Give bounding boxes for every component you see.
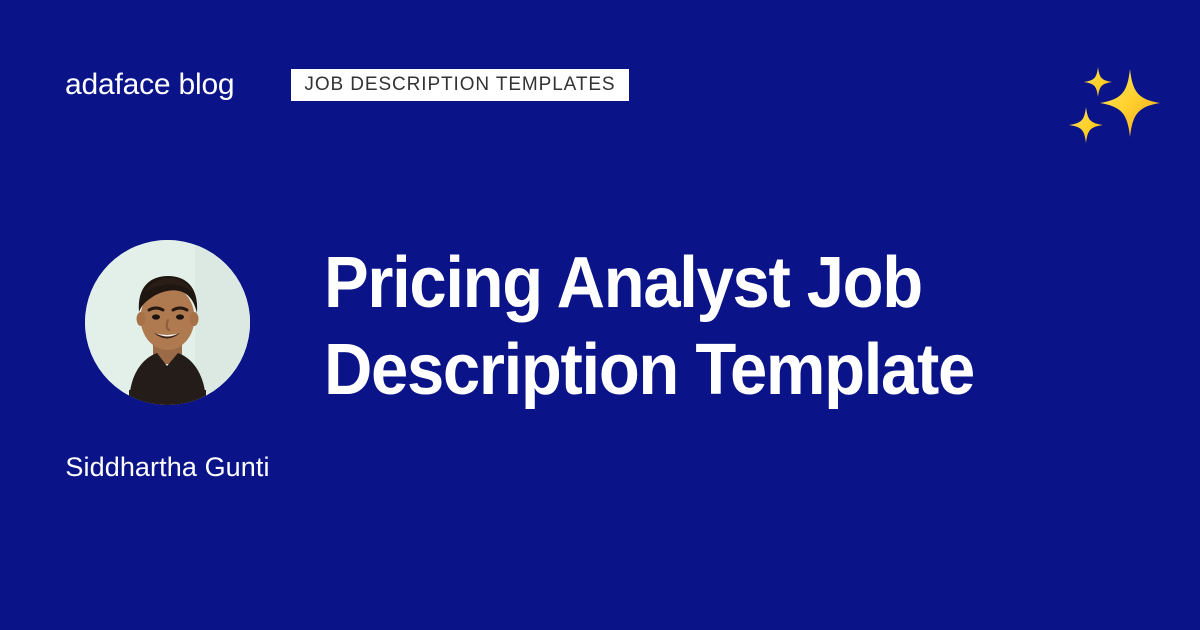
avatar bbox=[85, 240, 250, 405]
author-block: Siddhartha Gunti bbox=[85, 240, 250, 405]
page-title: Pricing Analyst Job Description Template bbox=[324, 240, 1068, 414]
page-title-line-1: Pricing Analyst Job bbox=[324, 240, 1068, 327]
blog-cover-canvas: { "theme": { "background": "#0A1387", "t… bbox=[0, 0, 1200, 630]
category-badge[interactable]: JOB DESCRIPTION TEMPLATES bbox=[291, 69, 628, 102]
page-title-line-2: Description Template bbox=[324, 327, 1068, 414]
author-name: Siddhartha Gunti bbox=[55, 452, 280, 483]
portrait-photo bbox=[85, 240, 250, 405]
blog-brand-label[interactable]: adaface blog bbox=[65, 70, 234, 100]
sparkles-icon bbox=[1068, 55, 1164, 151]
header-bar: adaface blog JOB DESCRIPTION TEMPLATES bbox=[65, 62, 1200, 108]
